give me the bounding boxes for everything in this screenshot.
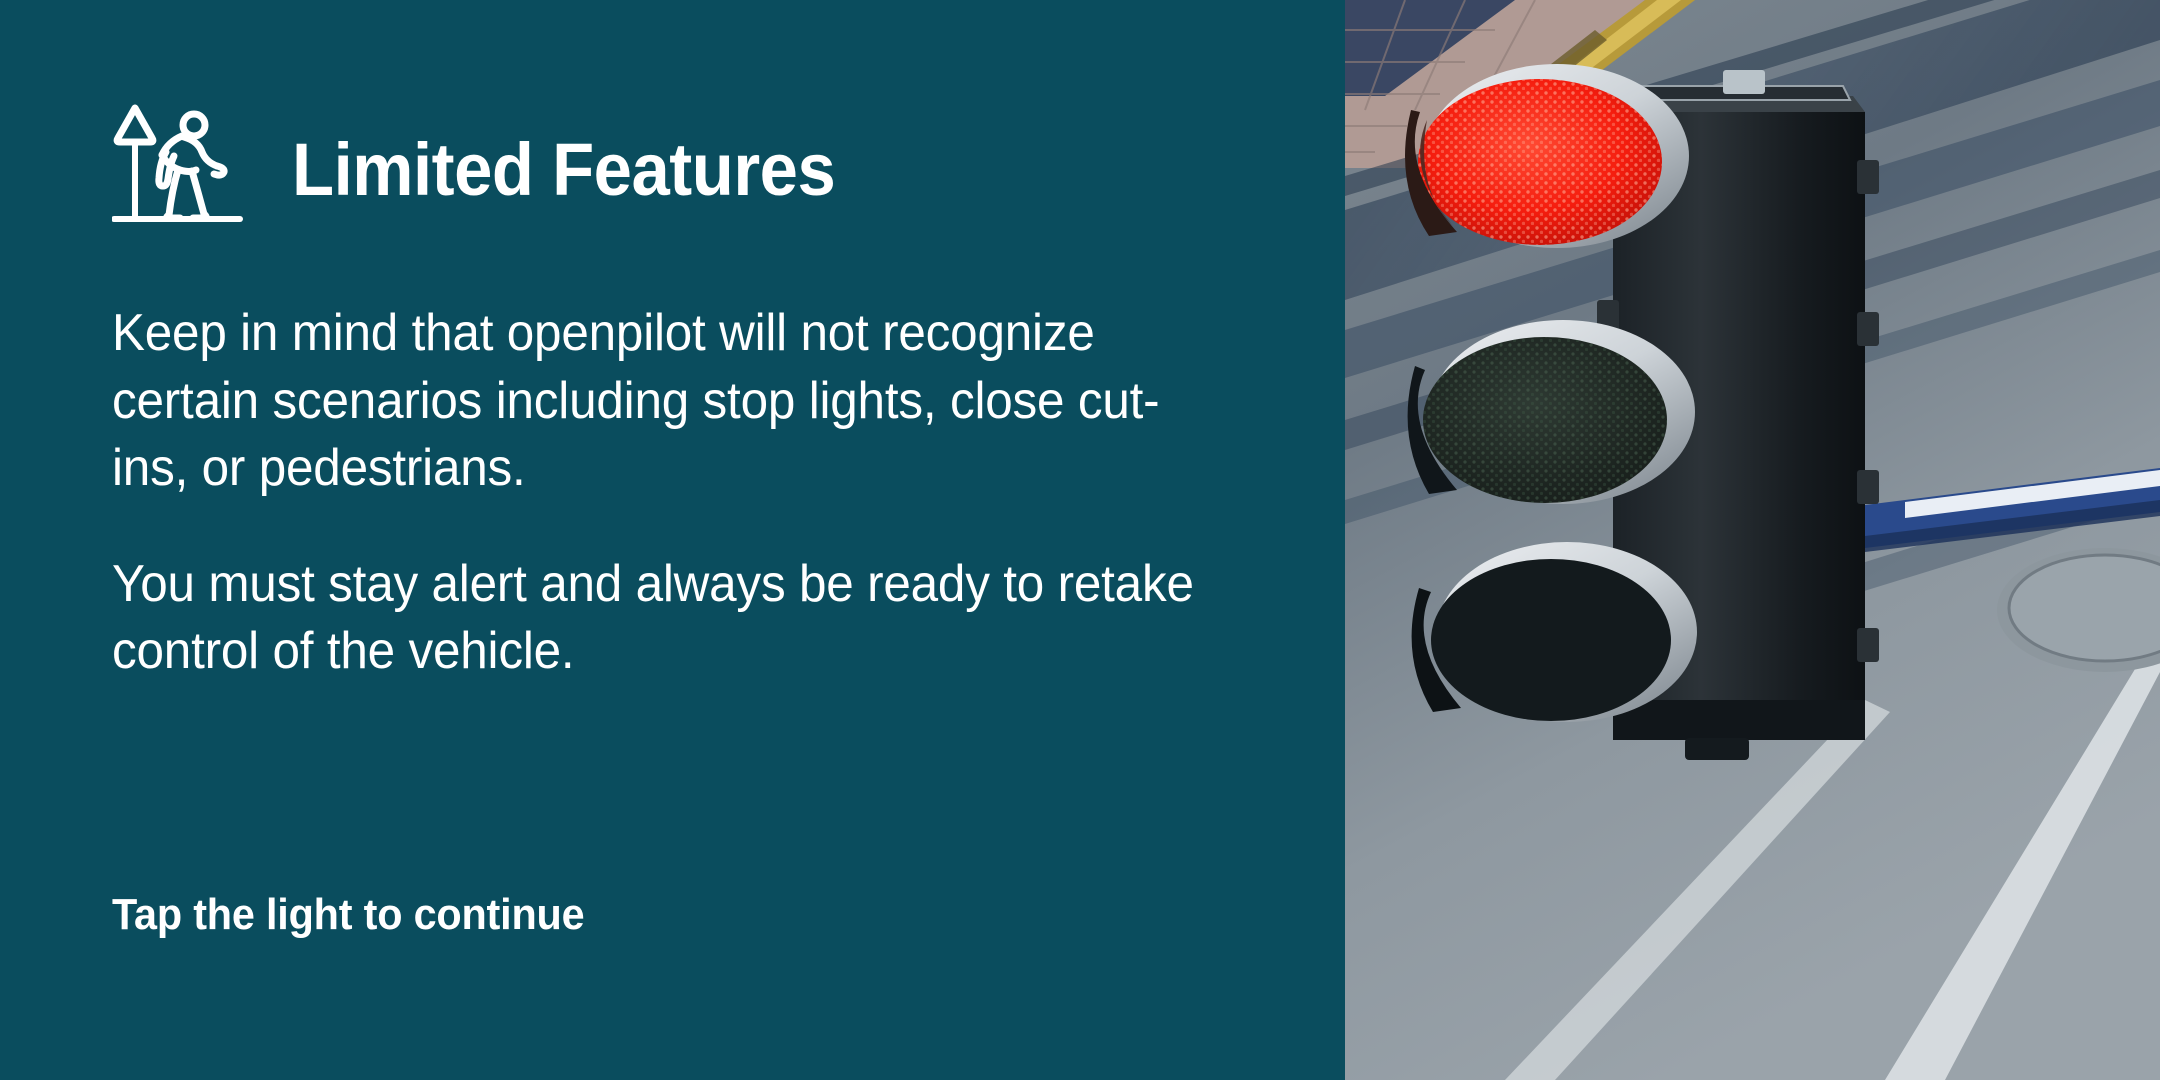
tap-to-continue-hint: Tap the light to continue: [112, 890, 584, 940]
page-title: Limited Features: [292, 133, 835, 207]
body-copy: Keep in mind that openpilot will not rec…: [112, 300, 1292, 686]
limited-features-screen: Limited Features Keep in mind that openp…: [0, 0, 2160, 1080]
pedestrian-crossing-sign-icon: [112, 100, 252, 240]
paragraph-stay-alert: You must stay alert and always be ready …: [112, 551, 1233, 686]
paragraph-scenarios: Keep in mind that openpilot will not rec…: [112, 300, 1233, 503]
traffic-light[interactable]: [1405, 64, 1879, 760]
info-panel: Limited Features Keep in mind that openp…: [0, 0, 1345, 1080]
traffic-light-photo[interactable]: [1345, 0, 2160, 1080]
traffic-light-illustration[interactable]: [1345, 0, 2160, 1080]
panel-header: Limited Features: [112, 100, 876, 240]
